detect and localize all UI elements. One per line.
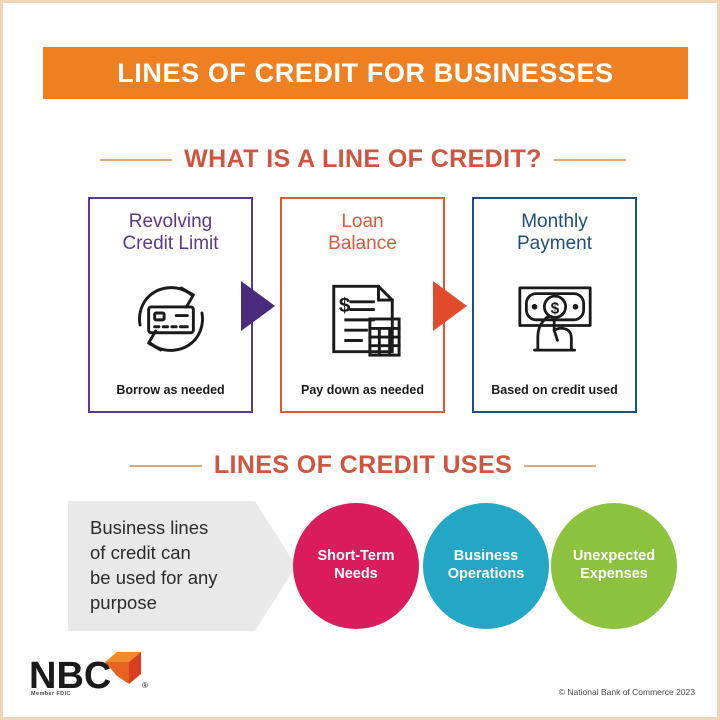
- card-monthly-payment: Monthly Payment $ Based: [472, 197, 637, 413]
- section-heading-what-is-label: WHAT IS A LINE OF CREDIT?: [184, 145, 542, 174]
- section-heading-uses: LINES OF CREDIT USES: [3, 451, 720, 480]
- title-banner: LINES OF CREDIT FOR BUSINESSES: [43, 47, 688, 99]
- heading-rule-left-icon: [100, 159, 172, 161]
- card-1-icon-wrap: [90, 255, 251, 383]
- heading-rule-right-2-icon: [524, 465, 596, 467]
- card-loan-balance: Loan Balance $: [280, 197, 445, 413]
- card-3-title: Monthly Payment: [517, 211, 592, 255]
- page-title: LINES OF CREDIT FOR BUSINESSES: [117, 58, 614, 89]
- svg-text:®: ®: [142, 681, 148, 690]
- section-heading-uses-label: LINES OF CREDIT USES: [214, 451, 512, 480]
- uses-callout-box: Business lines of credit can be used for…: [68, 501, 296, 631]
- section-heading-what-is: WHAT IS A LINE OF CREDIT?: [3, 145, 720, 174]
- nbc-logo: NBC ® Member FDIC: [29, 648, 199, 706]
- card-revolving-credit-limit: Revolving Credit Limit: [88, 197, 253, 413]
- card-3-caption: Based on credit used: [491, 383, 617, 397]
- card-2-caption: Pay down as needed: [301, 383, 424, 397]
- use-circle-2-label: Business Operations: [448, 548, 525, 583]
- use-circle-short-term-needs: Short-Term Needs: [293, 503, 419, 629]
- cards-row: Revolving Credit Limit: [3, 197, 720, 417]
- card-3-icon-wrap: $: [474, 255, 635, 383]
- card-2-title: Loan Balance: [328, 211, 397, 255]
- invoice-calculator-icon: $: [320, 276, 406, 362]
- use-circle-1-label: Short-Term Needs: [317, 548, 394, 583]
- flow-arrow-two-icon: [433, 281, 467, 331]
- use-circle-business-operations: Business Operations: [423, 503, 549, 629]
- svg-text:$: $: [338, 294, 350, 317]
- flow-arrow-one-icon: [241, 281, 275, 331]
- member-fdic-label: Member FDIC: [31, 691, 71, 697]
- credit-card-refresh-icon: [128, 276, 214, 362]
- svg-text:NBC: NBC: [29, 655, 111, 694]
- heading-rule-left-2-icon: [130, 465, 202, 467]
- infographic-page: LINES OF CREDIT FOR BUSINESSES WHAT IS A…: [0, 0, 720, 720]
- card-1-title: Revolving Credit Limit: [122, 211, 218, 255]
- copyright-text: © National Bank of Commerce 2023: [559, 687, 695, 697]
- card-2-icon-wrap: $: [282, 255, 443, 383]
- use-circle-unexpected-expenses: Unexpected Expenses: [551, 503, 677, 629]
- card-1-caption: Borrow as needed: [116, 383, 224, 397]
- nbc-logo-mark-icon: NBC ®: [29, 648, 159, 694]
- svg-text:$: $: [550, 300, 559, 317]
- heading-rule-right-icon: [554, 159, 626, 161]
- uses-row: Business lines of credit can be used for…: [3, 501, 720, 633]
- use-circle-3-label: Unexpected Expenses: [573, 548, 655, 583]
- uses-callout-text: Business lines of credit can be used for…: [90, 516, 218, 615]
- hand-dollar-bill-icon: $: [510, 276, 600, 362]
